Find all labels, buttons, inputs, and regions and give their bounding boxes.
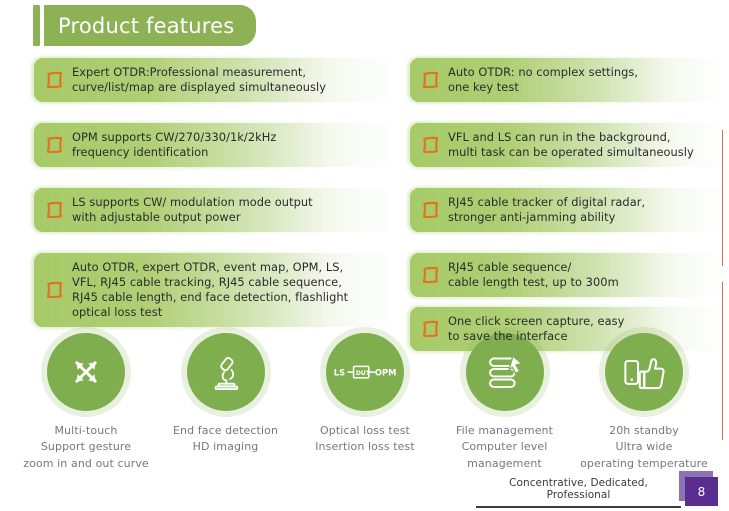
feature-text: Auto OTDR, expert OTDR, event map, OPM, … <box>72 260 348 320</box>
rough-square-bullet-icon <box>45 135 65 155</box>
page-title: Product features <box>58 14 234 38</box>
rough-square-bullet-icon <box>421 319 441 339</box>
feature-icon-caption: File management Computer level managemen… <box>456 423 553 472</box>
rough-square-bullet-icon <box>421 135 441 155</box>
feature-pill[interactable]: VFL and LS can run in the background, mu… <box>410 123 728 167</box>
svg-text:LS: LS <box>334 367 345 377</box>
rough-square-bullet-icon <box>421 200 441 220</box>
page-title-banner: Product features <box>33 5 256 46</box>
feature-text: RJ45 cable sequence/ cable length test, … <box>448 260 619 290</box>
feature-icon-caption: Optical loss test Insertion loss test <box>315 423 415 456</box>
feature-column-left: Expert OTDR:Professional measurement, cu… <box>34 58 398 327</box>
footer-tagline: Concentrative, Dedicated, Professional <box>476 477 681 506</box>
feature-text: LS supports CW/ modulation mode output w… <box>72 195 313 225</box>
feature-text: VFL and LS can run in the background, mu… <box>448 130 694 160</box>
feature-pill[interactable]: OPM supports CW/270/330/1k/2kHz frequenc… <box>34 123 398 167</box>
microscope-icon <box>187 333 265 411</box>
feature-icon-item[interactable]: End face detection HD imaging <box>158 333 294 472</box>
svg-text:OPM: OPM <box>375 367 397 377</box>
rough-square-bullet-icon <box>45 280 65 300</box>
feature-pill[interactable]: LS supports CW/ modulation mode output w… <box>34 188 398 232</box>
rough-square-bullet-icon <box>421 265 441 285</box>
feature-icon-item[interactable]: File management Computer level managemen… <box>437 333 573 472</box>
feature-icon-caption: End face detection HD imaging <box>173 423 278 456</box>
ls-dut-opm-diagram-icon: LSDUTOPM <box>326 333 404 411</box>
feature-column-right: Auto OTDR: no complex settings, one key … <box>410 58 728 351</box>
feature-text: Expert OTDR:Professional measurement, cu… <box>72 65 326 95</box>
right-edge-rule-bottom <box>722 282 723 440</box>
rough-square-bullet-icon <box>45 70 65 90</box>
rough-square-bullet-icon <box>45 200 65 220</box>
feature-text: OPM supports CW/270/330/1k/2kHz frequenc… <box>72 130 276 160</box>
svg-text:DUT: DUT <box>356 369 371 376</box>
file-stack-icon <box>466 333 544 411</box>
feature-icon-caption: Multi-touch Support gesture zoom in and … <box>23 423 149 472</box>
feature-pill[interactable]: Auto OTDR, expert OTDR, event map, OPM, … <box>34 253 398 327</box>
phone-thumbs-up-icon <box>605 333 683 411</box>
right-edge-rule-top <box>722 130 723 266</box>
feature-icon-item[interactable]: LSDUTOPMOptical loss test Insertion loss… <box>297 333 433 472</box>
feature-text: One click screen capture, easy to save t… <box>448 314 624 344</box>
footer-divider <box>476 506 681 508</box>
pinch-zoom-arrows-icon <box>47 333 125 411</box>
title-plate: Product features <box>44 5 256 46</box>
feature-icon-caption: 20h standby Ultra wide operating tempera… <box>580 423 708 472</box>
title-accent-bar <box>33 5 40 46</box>
feature-text: Auto OTDR: no complex settings, one key … <box>448 65 638 95</box>
feature-icon-item[interactable]: 20h standby Ultra wide operating tempera… <box>576 333 712 472</box>
page-number-badge: 8 <box>685 477 718 506</box>
feature-pill[interactable]: RJ45 cable tracker of digital radar, str… <box>410 188 728 232</box>
feature-text: RJ45 cable tracker of digital radar, str… <box>448 195 645 225</box>
feature-pill[interactable]: Expert OTDR:Professional measurement, cu… <box>34 58 398 102</box>
slide-root: Product features Expert OTDR:Professiona… <box>0 0 729 511</box>
page-number: 8 <box>698 485 706 499</box>
feature-icon-row: Multi-touch Support gesture zoom in and … <box>18 333 712 472</box>
footer: Concentrative, Dedicated, Professional <box>476 477 681 508</box>
feature-icon-item[interactable]: Multi-touch Support gesture zoom in and … <box>18 333 154 472</box>
feature-pill[interactable]: Auto OTDR: no complex settings, one key … <box>410 58 728 102</box>
feature-pill[interactable]: RJ45 cable sequence/ cable length test, … <box>410 253 728 297</box>
rough-square-bullet-icon <box>421 70 441 90</box>
